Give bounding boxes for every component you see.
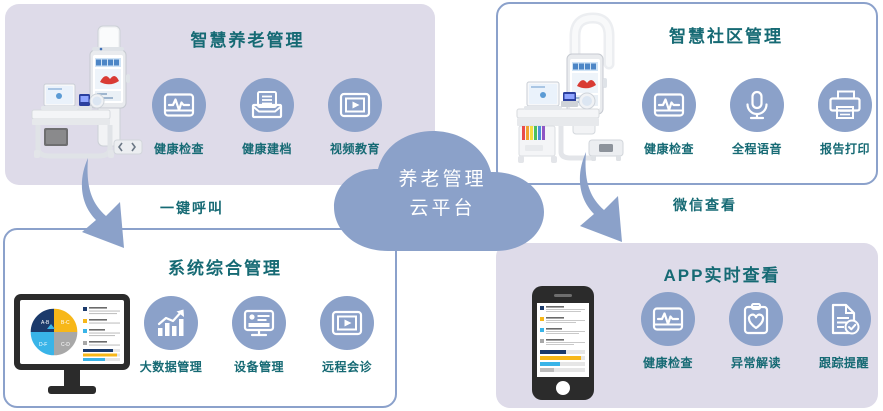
feature-label: 大数据管理 — [140, 358, 203, 375]
svg-text:B-C: B-C — [61, 320, 70, 326]
svg-text:C-D: C-D — [61, 342, 70, 348]
feature-big-data-bl[interactable]: 大数据管理 — [140, 296, 202, 375]
feature-full-voice-tr[interactable]: 全程语音 — [726, 78, 788, 157]
printer-icon — [818, 78, 872, 132]
svg-text:A-B: A-B — [41, 320, 50, 326]
feature-label: 健康检查 — [154, 140, 204, 157]
health-kiosk-workstation-image — [22, 22, 150, 167]
feature-label: 健康检查 — [643, 354, 693, 371]
feature-label: 远程会诊 — [322, 358, 372, 375]
feature-health-record-tl[interactable]: 健康建档 — [236, 78, 298, 157]
feature-label: 全程语音 — [732, 140, 782, 157]
feature-remote-consult-bl[interactable]: 远程会诊 — [316, 296, 378, 375]
arrow-top-left-to-bottom-left — [80, 158, 158, 254]
feature-label: 报告打印 — [820, 140, 870, 157]
video-play-icon — [328, 78, 382, 132]
feature-label: 健康建档 — [242, 140, 292, 157]
video-play-icon — [320, 296, 374, 350]
smartphone-report-image — [530, 284, 596, 402]
svg-text:D-F: D-F — [39, 342, 47, 348]
feature-health-check-br[interactable]: 健康检查 — [637, 292, 699, 371]
desktop-monitor-dashboard-image: A-B B-C C-D D-F — [12, 292, 132, 398]
arrow-label-wechat-view: 微信查看 — [673, 195, 737, 215]
feature-list-bottom-left: 大数据管理 设备管理 — [140, 296, 378, 375]
infographic-canvas: 智慧养老管理 — [0, 0, 883, 411]
arrow-label-one-key-call: 一键呼叫 — [160, 198, 224, 218]
cloud-shape-icon — [330, 131, 555, 259]
feature-tracking-reminder-br[interactable]: 跟踪提醒 — [813, 292, 875, 371]
document-check-icon — [817, 292, 871, 346]
bar-chart-growth-icon — [144, 296, 198, 350]
feature-device-management-bl[interactable]: 设备管理 — [228, 296, 290, 375]
feature-report-print-tr[interactable]: 报告打印 — [814, 78, 876, 157]
health-monitor-icon — [641, 292, 695, 346]
cloud-platform: 养老管理 云平台 — [330, 131, 555, 259]
feature-list-top-right: 健康检查 全程语音 — [638, 78, 876, 157]
feature-label: 跟踪提醒 — [819, 354, 869, 371]
desktop-monitor-icon — [232, 296, 286, 350]
panel-title-bottom-right: APP实时查看 — [566, 261, 878, 286]
feature-health-check-tr[interactable]: 健康检查 — [638, 78, 700, 157]
microphone-icon — [730, 78, 784, 132]
arrow-top-right-to-bottom-right — [578, 152, 656, 248]
feature-list-bottom-right: 健康检查 异常解读 — [637, 292, 875, 371]
file-archive-icon — [240, 78, 294, 132]
feature-label: 设备管理 — [234, 358, 284, 375]
feature-health-check-tl[interactable]: 健康检查 — [148, 78, 210, 157]
health-monitor-icon — [152, 78, 206, 132]
clipboard-heart-icon — [729, 292, 783, 346]
feature-label: 异常解读 — [731, 354, 781, 371]
health-monitor-icon — [642, 78, 696, 132]
feature-abnormal-reading-br[interactable]: 异常解读 — [725, 292, 787, 371]
